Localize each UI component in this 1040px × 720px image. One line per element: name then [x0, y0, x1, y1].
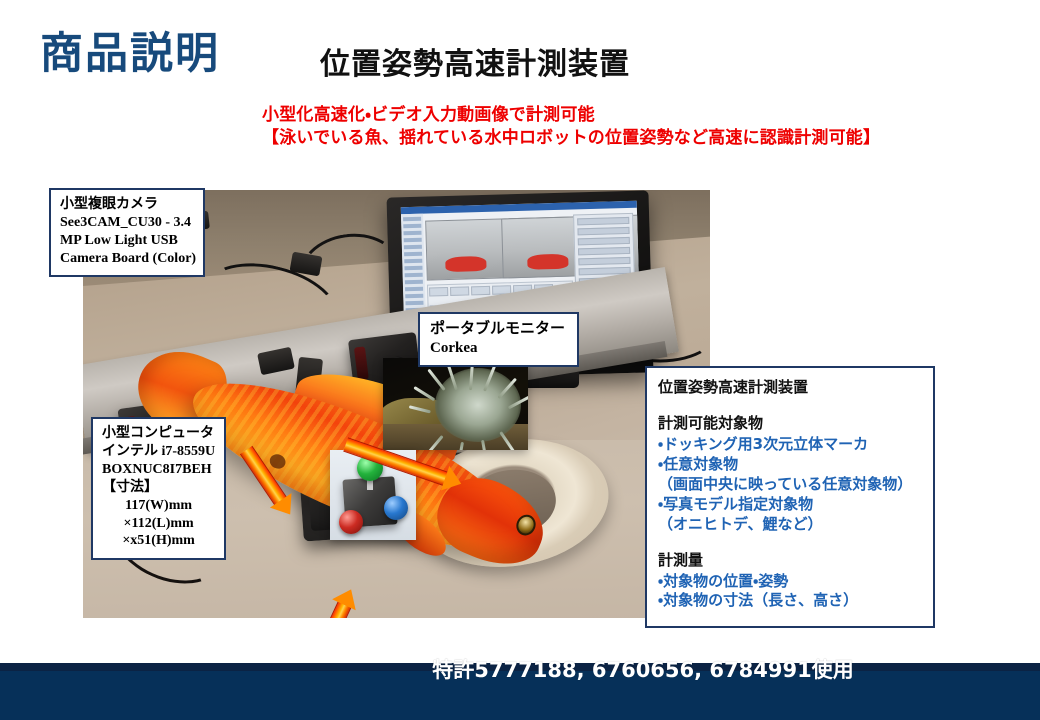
- spec-section2-item: ・対象物の寸法（長さ、高さ）: [658, 591, 933, 611]
- spec-section1-item: （画面中央に映っている任意対象物）: [658, 475, 933, 495]
- callout-computer: 小型コンピュータ インテル i7-8559U BOXNUC8I7BEH 【寸法】…: [91, 417, 226, 560]
- page-title: 位置姿勢高速計測装置: [320, 50, 630, 80]
- callout-computer-line-4: 【寸法】: [102, 479, 215, 497]
- callout-monitor-line-2: Corkea: [430, 339, 565, 358]
- callout-computer-line-7: ×x51(H)mm: [102, 532, 215, 550]
- footer-patent-text: 特許5777188, 6760656, 6784991使用: [0, 654, 1040, 684]
- spec-section2-item: ・対象物の位置・姿勢: [658, 572, 933, 592]
- callout-computer-line-5: 117(W)mm: [102, 497, 215, 515]
- app-titlebar: [401, 201, 637, 215]
- spec-box: 位置姿勢高速計測装置 計測可能対象物 ・ドッキング用3次元立体マーカ ・任意対象…: [645, 366, 935, 628]
- callout-computer-line-2: インテル i7-8559U: [102, 443, 215, 461]
- page-title-badge: 商品説明: [40, 33, 220, 76]
- callout-monitor: ポータブルモニター Corkea: [418, 312, 579, 367]
- callout-camera-line-1: 小型複眼カメラ: [60, 196, 196, 214]
- spec-section1-item: （オニヒトデ、鯉など）: [658, 515, 933, 535]
- subtitle-block: 小型化高速化・ビデオ入力動画像で計測可能 【泳いでいる魚、揺れている水中ロボット…: [262, 104, 880, 151]
- callout-computer-line-3: BOXNUC8I7BEH: [102, 461, 215, 479]
- spec-section1-item: ・写真モデル指定対象物: [658, 495, 933, 515]
- marker-ball-red: [339, 510, 363, 534]
- spec-section2-heading: 計測量: [658, 551, 933, 571]
- subtitle-line-2: 【泳いでいる魚、揺れている水中ロボットの位置姿勢など高速に認識計測可能】: [262, 127, 880, 150]
- spec-section1-heading: 計測可能対象物: [658, 414, 933, 434]
- callout-camera: 小型複眼カメラ See3CAM_CU30 - 3.4 MP Low Light …: [49, 188, 205, 277]
- callout-computer-line-6: ×112(L)mm: [102, 515, 215, 533]
- inset-crown-of-thorns-photo: [383, 358, 528, 450]
- spec-section1-item: ・任意対象物: [658, 455, 933, 475]
- callout-camera-line-3: MP Low Light USB: [60, 232, 196, 250]
- callout-monitor-line-1: ポータブルモニター: [430, 320, 565, 339]
- subtitle-line-1: 小型化高速化・ビデオ入力動画像で計測可能: [262, 104, 880, 127]
- callout-computer-line-1: 小型コンピュータ: [102, 425, 215, 443]
- spec-box-title: 位置姿勢高速計測装置: [658, 378, 933, 398]
- spec-spacer: [658, 535, 933, 551]
- slide-root: 商品説明 位置姿勢高速計測装置 小型化高速化・ビデオ入力動画像で計測可能 【泳い…: [0, 0, 1040, 720]
- marker-ball-blue: [384, 496, 408, 520]
- spec-section1-item: ・ドッキング用3次元立体マーカ: [658, 435, 933, 455]
- callout-camera-line-2: See3CAM_CU30 - 3.4: [60, 214, 196, 232]
- callout-camera-line-4: Camera Board (Color): [60, 250, 196, 268]
